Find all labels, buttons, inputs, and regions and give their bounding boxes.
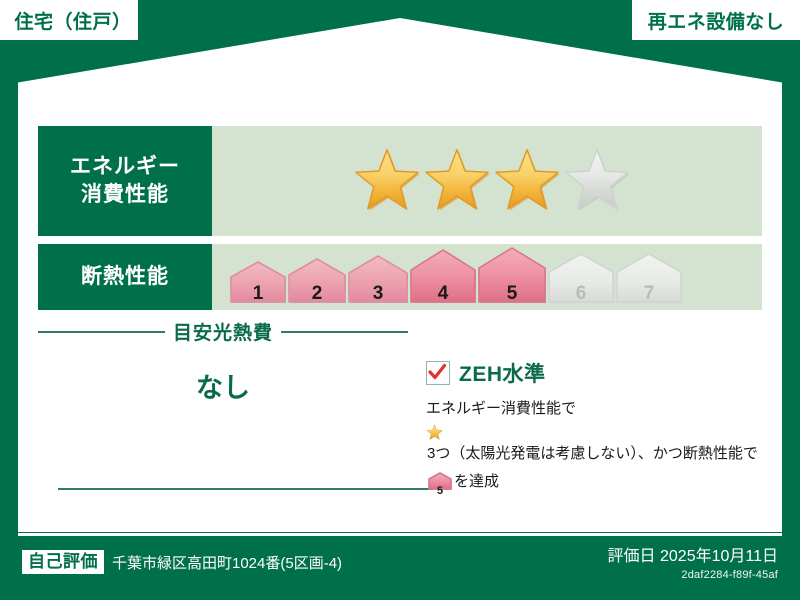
footer-left: 自己評価 千葉市緑区高田町1024番(5区画-4): [22, 550, 342, 574]
utility-cost-value: なし: [38, 366, 408, 405]
insulation-level-number: 4: [410, 284, 476, 303]
insulation-level-number: 1: [230, 284, 286, 303]
footer-divider: [18, 533, 782, 536]
zeh-desc-part3: を達成: [454, 473, 499, 490]
utility-cost-bottom-rule: [58, 488, 433, 490]
insulation-level-5: 5: [478, 247, 546, 308]
utility-cost-heading-text: 目安光熱費: [173, 318, 273, 345]
insulation-level-2: 2: [288, 258, 346, 308]
insulation-label-text: 断熱性能: [81, 263, 169, 291]
renewable-energy-tag: 再エネ設備なし: [632, 0, 800, 40]
inline-house-icon: 5: [428, 472, 452, 498]
insulation-performance-row: 断熱性能 1234567: [38, 244, 762, 310]
heading-rule-right: [281, 331, 408, 333]
insulation-level-1: 1: [230, 261, 286, 308]
insulation-performance-label: 断熱性能: [38, 244, 212, 310]
evaluation-date: 評価日 2025年10月11日: [608, 546, 778, 568]
footer: 自己評価 千葉市緑区高田町1024番(5区画-4) 評価日 2025年10月11…: [0, 540, 800, 600]
energy-performance-row: エネルギー 消費性能: [38, 126, 762, 236]
evaluation-hash: 2daf2284-f89f-45af: [608, 568, 778, 583]
inline-house-number: 5: [428, 486, 452, 497]
property-address: 千葉市緑区高田町1024番(5区画-4): [112, 552, 342, 573]
insulation-level-number: 7: [616, 284, 682, 303]
self-evaluation-badge: 自己評価: [22, 550, 104, 574]
energy-performance-label: 住宅（住戸） 再エネ設備なし 建築物省エネ法に基づく 省エネ性能ラベル エネルギ…: [0, 0, 800, 600]
footer-right: 評価日 2025年10月11日 2daf2284-f89f-45af: [608, 546, 778, 583]
insulation-level-number: 3: [348, 284, 408, 303]
zeh-desc-part1: エネルギー消費性能で: [426, 400, 576, 417]
building-type-tag: 住宅（住戸）: [0, 0, 138, 40]
zeh-description: エネルギー消費性能で3つ（太陽光発電は考慮しない）、かつ断熱性能で5を達成: [426, 396, 766, 498]
zeh-block: ZEH水準 エネルギー消費性能で3つ（太陽光発電は考慮しない）、かつ断熱性能で5…: [426, 358, 766, 498]
energy-label-line1: エネルギー: [70, 153, 180, 181]
inline-star-icon: [426, 424, 766, 441]
zeh-desc-part2: 3つ（太陽光発電は考慮しない）、かつ断熱性能で: [427, 445, 758, 462]
insulation-level-number: 5: [478, 284, 546, 303]
insulation-level-number: 2: [288, 284, 346, 303]
insulation-level-4: 4: [410, 249, 476, 308]
insulation-level-7: 7: [616, 253, 682, 308]
star-icon-filled: [353, 147, 421, 215]
zeh-title: ZEH水準: [459, 358, 546, 388]
energy-label-line2: 消費性能: [81, 181, 169, 209]
heading-rule-left: [38, 331, 165, 333]
insulation-rating-houses: 1234567: [212, 244, 762, 310]
star-icon-empty: [563, 147, 631, 215]
energy-rating-stars: [212, 126, 762, 236]
energy-performance-label: エネルギー 消費性能: [38, 126, 212, 236]
zeh-heading: ZEH水準: [426, 358, 766, 388]
zeh-checkbox: [426, 361, 450, 385]
insulation-level-3: 3: [348, 255, 408, 308]
utility-cost-heading: 目安光熱費: [38, 318, 408, 345]
star-icon-filled: [493, 147, 561, 215]
star-icon-filled: [426, 424, 443, 441]
star-icon-filled: [423, 147, 491, 215]
insulation-level-number: 6: [548, 284, 614, 303]
check-icon: [426, 361, 448, 383]
insulation-level-6: 6: [548, 253, 614, 308]
label-body-panel: エネルギー 消費性能 断熱性能 1234567 目安光熱費 なし: [18, 118, 782, 532]
